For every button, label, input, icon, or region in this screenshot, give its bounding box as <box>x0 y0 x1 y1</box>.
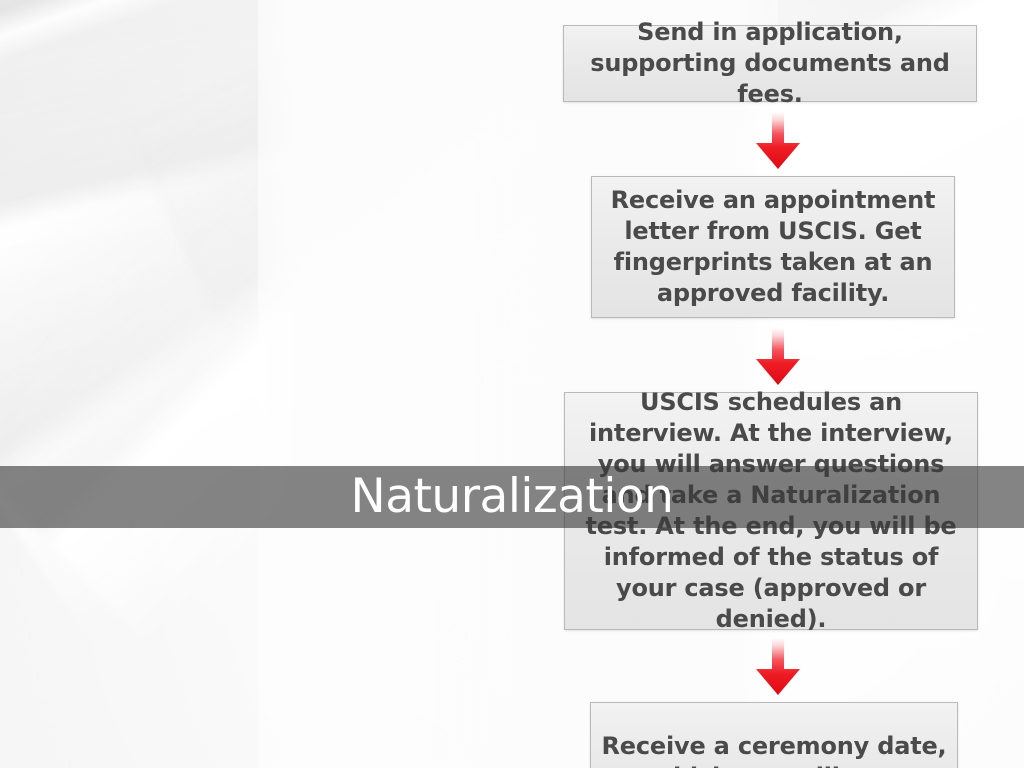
flowchart-step-1: Send in application, supporting document… <box>563 25 977 102</box>
down-arrow-icon <box>752 112 804 170</box>
flowchart-step-4: Receive a ceremony date, at which you wi… <box>590 702 958 768</box>
flowchart-step-2-label: Receive an appointment letter from USCIS… <box>592 185 954 309</box>
slide-title: Naturalization <box>351 473 674 520</box>
flowchart-step-2: Receive an appointment letter from USCIS… <box>591 176 955 318</box>
down-arrow-icon <box>752 328 804 386</box>
flowchart-step-1-label: Send in application, supporting document… <box>564 17 976 110</box>
title-overlay-band: Naturalization <box>0 466 1024 528</box>
down-arrow-icon <box>752 638 804 696</box>
flowchart-step-4-label: Receive a ceremony date, at which you wi… <box>591 731 957 768</box>
flowchart-image: Send in application, supporting document… <box>258 0 778 768</box>
slide-canvas: Send in application, supporting document… <box>0 0 1024 768</box>
